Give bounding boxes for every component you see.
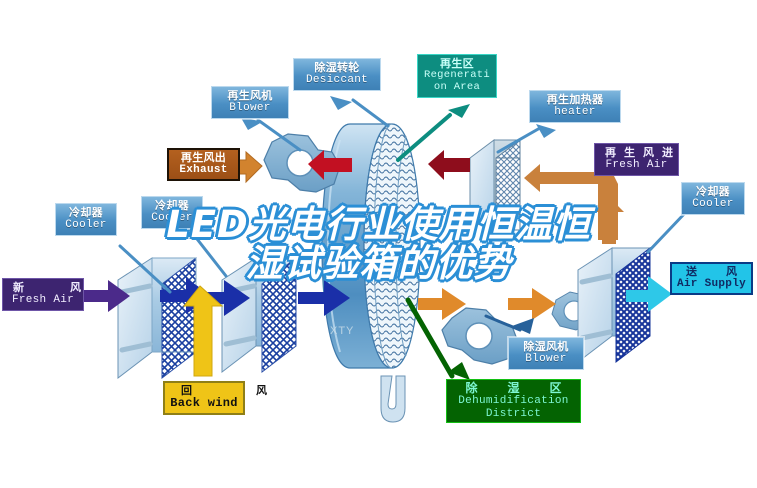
label-dehumidify-blower-cn: 除湿风机 xyxy=(511,341,581,353)
label-dehumidification-en1: Dehumidification xyxy=(449,395,578,407)
label-regeneration-inlet-en: Fresh Air xyxy=(597,159,676,171)
label-dehumidify-blower-en: Blower xyxy=(511,353,581,365)
label-fresh-air-cn: 新 风 xyxy=(5,282,81,294)
label-exhaust-cn: 再生风出 xyxy=(171,152,236,164)
label-dehumidify-blower[interactable]: 除湿风机 Blower xyxy=(508,337,584,370)
label-air-supply[interactable]: 送 风 Air Supply xyxy=(670,262,753,295)
label-cooler-left-outer-en: Cooler xyxy=(58,219,114,231)
label-cooler-right[interactable]: 冷却器 Cooler xyxy=(681,182,745,215)
label-regeneration-heater-cn: 再生加热器 xyxy=(532,94,618,106)
label-regeneration-blower-en: Blower xyxy=(214,102,286,114)
label-back-wind[interactable]: 回 风 Back wind xyxy=(163,381,245,415)
label-cooler-right-en: Cooler xyxy=(684,198,742,210)
label-desiccant-wheel-cn: 除湿转轮 xyxy=(296,62,378,74)
label-regeneration-blower-cn: 再生风机 xyxy=(214,90,286,102)
label-regeneration-inlet[interactable]: 再生风进 Fresh Air xyxy=(594,143,679,176)
label-regeneration-heater-en: heater xyxy=(532,106,618,118)
label-dehumidification-district[interactable]: 除 湿 区 Dehumidification District xyxy=(446,379,581,423)
cooler-right-shape xyxy=(578,248,650,362)
label-fresh-air[interactable]: 新 风 Fresh Air xyxy=(2,278,84,311)
cooler-left-inner-shape xyxy=(222,258,296,372)
label-regeneration-inlet-cn: 再生风进 xyxy=(597,147,676,159)
label-desiccant-wheel[interactable]: 除湿转轮 Desiccant xyxy=(293,58,381,91)
label-air-supply-cn: 送 风 xyxy=(674,266,749,278)
label-cooler-left-outer[interactable]: 冷却器 Cooler xyxy=(55,203,117,236)
label-cooler-left-outer-cn: 冷却器 xyxy=(58,207,114,219)
label-regeneration-heater[interactable]: 再生加热器 heater xyxy=(529,90,621,123)
label-regeneration-area[interactable]: 再生区 Regenerati on Area xyxy=(417,54,497,98)
cooler-left-outer-shape xyxy=(118,258,196,378)
label-cooler-left-inner-en: Cooler xyxy=(144,212,200,224)
dehumidify-blower-shape xyxy=(442,308,518,364)
diagram-canvas: 除湿转轮 Desiccant 再生风机 Blower 再生区 Regenerat… xyxy=(0,0,757,488)
regen-inlet-arrows xyxy=(524,164,624,244)
label-air-supply-en: Air Supply xyxy=(674,278,749,290)
label-cooler-right-cn: 冷却器 xyxy=(684,186,742,198)
label-dehumidification-en2: District xyxy=(449,408,578,420)
regeneration-heater-shape xyxy=(470,140,520,230)
watermark: XTY xyxy=(330,325,354,337)
label-back-wind-en: Back wind xyxy=(167,397,241,410)
label-exhaust[interactable]: 再生风出 Exhaust xyxy=(167,148,240,181)
label-fresh-air-en: Fresh Air xyxy=(5,294,81,306)
label-regeneration-blower[interactable]: 再生风机 Blower xyxy=(211,86,289,119)
label-regeneration-area-en2: on Area xyxy=(420,82,494,94)
label-dehumidification-cn: 除 湿 区 xyxy=(449,382,578,395)
label-desiccant-wheel-en: Desiccant xyxy=(296,74,378,86)
label-exhaust-en: Exhaust xyxy=(171,164,236,176)
label-cooler-left-inner-cn: 冷却器 xyxy=(144,200,200,212)
label-cooler-left-inner[interactable]: 冷却器 Cooler xyxy=(141,196,203,229)
